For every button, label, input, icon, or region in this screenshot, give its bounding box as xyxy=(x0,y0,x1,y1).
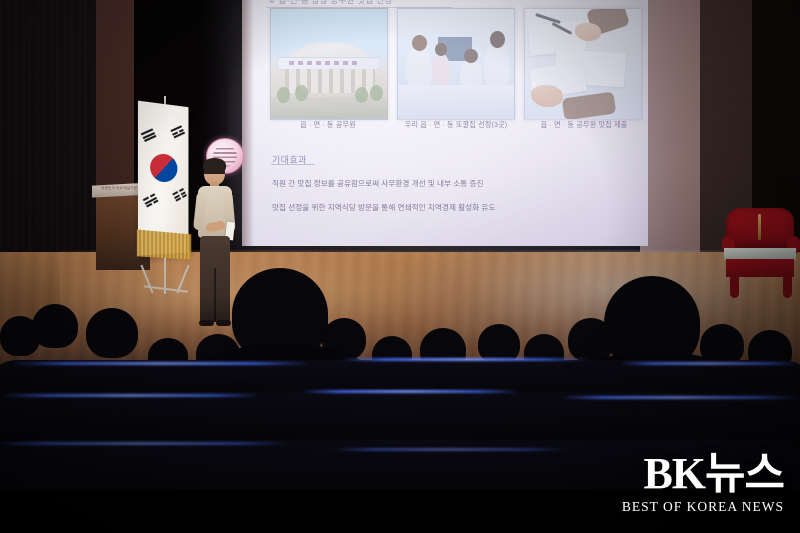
caption-2: 우리 읍 · 면 · 동 또깔집 선정(3곳) xyxy=(396,120,516,130)
auditorium-photo: ① 읍·면·동 남당 공무원 맛집 선정 xyxy=(0,0,800,533)
slide-section-underline xyxy=(271,164,315,165)
meeting-room-photo xyxy=(397,8,515,120)
flag-fringe xyxy=(137,230,191,260)
slide-bullet-1: 직원 간 맛집 정보를 공유함으로써 사무환경 개선 및 내부 소통 증진 xyxy=(272,178,484,189)
caption-1: 읍 · 면 · 동 공무원 xyxy=(268,120,388,130)
flag-stand xyxy=(140,258,192,298)
watermark: BK뉴스 BEST OF KOREA NEWS xyxy=(622,452,784,515)
traditional-bench xyxy=(722,208,800,300)
presenter-hair xyxy=(203,158,226,172)
watermark-tagline: BEST OF KOREA NEWS xyxy=(622,499,784,515)
government-building-photo xyxy=(270,8,388,120)
presenter xyxy=(186,148,246,328)
slide-bullet-2: 맛집 선정을 위한 지역식당 방문을 통해 연쇄적인 지역경제 활성화 유도 xyxy=(272,202,496,213)
slide-thumbnail-row xyxy=(270,8,642,118)
taeguk-symbol xyxy=(145,149,182,186)
stage-floor xyxy=(0,252,800,382)
slide-title: ① 읍·면·동 남당 공무원 맛집 선정 xyxy=(268,0,392,6)
projection-screen: ① 읍·면·동 남당 공무원 맛집 선정 xyxy=(242,0,648,246)
caption-3: 읍 · 면 · 동 공무원 맛집 제출 xyxy=(524,120,644,130)
watermark-brand: BK뉴스 xyxy=(622,452,784,496)
documents-photo xyxy=(524,8,642,120)
slide-caption-row: 읍 · 면 · 동 공무원 우리 읍 · 면 · 동 또깔집 선정(3곳) 읍 … xyxy=(268,120,644,130)
